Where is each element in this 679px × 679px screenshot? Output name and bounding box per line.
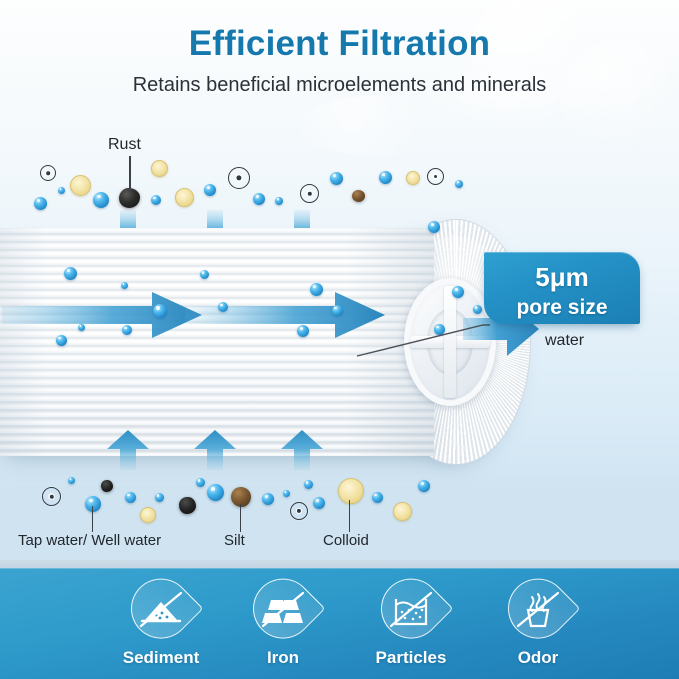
sediment-glyph [131, 580, 191, 640]
tap-water-leader-line [92, 506, 93, 532]
infographic-root: Efficient Filtration Retains beneficial … [0, 0, 679, 679]
particle-water [262, 493, 274, 505]
particle-water [34, 197, 47, 210]
particle-colloid [70, 175, 91, 196]
particle-colloid [393, 502, 412, 521]
feature-iron[interactable]: Iron [228, 580, 338, 668]
features-banner: Sediment Iron [0, 568, 679, 679]
particle-ring [40, 165, 56, 181]
particle-water [56, 335, 67, 346]
particle-water [121, 282, 128, 289]
particle-water [253, 193, 265, 205]
particle-ring [42, 487, 61, 506]
particle-water [418, 480, 430, 492]
particle-water [297, 325, 309, 337]
particle-water [125, 492, 136, 503]
particle-water [64, 267, 77, 280]
feature-label: Sediment [106, 648, 216, 668]
particle-water [200, 270, 209, 279]
feature-odor[interactable]: Odor [483, 580, 593, 668]
particle-water [155, 493, 164, 502]
internal-flow-arrow [185, 290, 385, 340]
particle-water [78, 324, 85, 331]
particle-silt [101, 480, 113, 492]
particle-water [204, 184, 216, 196]
particle-water [153, 304, 167, 318]
particle-water [434, 324, 445, 335]
particle-silt [352, 190, 365, 202]
particle-ring [427, 168, 444, 185]
particle-water [379, 171, 392, 184]
callout-silt: Silt [224, 532, 245, 549]
particle-water [68, 477, 75, 484]
particle-colloid [338, 478, 364, 504]
page-title: Efficient Filtration [0, 24, 679, 64]
sediment-drop-icon [131, 580, 191, 640]
particle-water [275, 197, 283, 205]
particle-colloid [406, 171, 420, 185]
feature-label: Iron [228, 648, 338, 668]
inlet-arrow-up [105, 430, 151, 470]
particle-water [310, 283, 323, 296]
particles-glyph [381, 580, 441, 640]
particle-water [93, 192, 109, 208]
feature-label: Odor [483, 648, 593, 668]
particle-water [151, 195, 161, 205]
badge-pore-size-label: pore size [484, 297, 640, 318]
particle-water [122, 325, 132, 335]
particle-ring [300, 184, 319, 203]
particle-colloid [151, 160, 168, 177]
particle-water [58, 187, 65, 194]
hub-spoke-vertical [444, 286, 456, 398]
callout-filtered-water-line2: water [545, 332, 584, 350]
iron-glyph [253, 580, 313, 640]
particle-silt [179, 497, 196, 514]
particle-water [330, 172, 343, 185]
iron-drop-icon [253, 580, 313, 640]
feature-particles[interactable]: Particles [356, 580, 466, 668]
callout-rust: Rust [108, 136, 141, 154]
badge-pore-size-value: 5μm [484, 264, 640, 290]
particles-drop-icon [381, 580, 441, 640]
particle-water [196, 478, 205, 487]
particle-water [372, 492, 383, 503]
feature-sediment[interactable]: Sediment [106, 580, 216, 668]
feature-label: Particles [356, 648, 466, 668]
particle-water [332, 305, 343, 316]
particle-ring [290, 502, 308, 520]
particle-ring [228, 167, 250, 189]
particle-water [428, 221, 440, 233]
silt-leader-line [240, 504, 241, 532]
callout-tap-well-water: Tap water/ Well water [18, 532, 161, 549]
particle-water [455, 180, 463, 188]
particle-water [283, 490, 290, 497]
pore-size-badge: 5μm pore size [484, 252, 640, 324]
particle-water [207, 484, 224, 501]
page-subtitle: Retains beneficial microelements and min… [0, 74, 679, 97]
particle-water [313, 497, 325, 509]
filtration-diagram: Rust [0, 110, 679, 565]
particle-water [452, 286, 464, 298]
particle-colloid [140, 507, 156, 523]
odor-drop-icon [508, 580, 568, 640]
inlet-arrow-up [279, 430, 325, 470]
callout-colloid: Colloid [323, 532, 369, 549]
rust-leader-line [129, 156, 131, 192]
particle-colloid [175, 188, 194, 207]
banner-top-strip [0, 560, 679, 568]
colloid-leader-line [349, 500, 350, 532]
inlet-arrow-up [192, 430, 238, 470]
internal-flow-arrow [2, 290, 202, 340]
particle-water [304, 480, 313, 489]
odor-glyph [508, 580, 568, 640]
particle-water [218, 302, 228, 312]
